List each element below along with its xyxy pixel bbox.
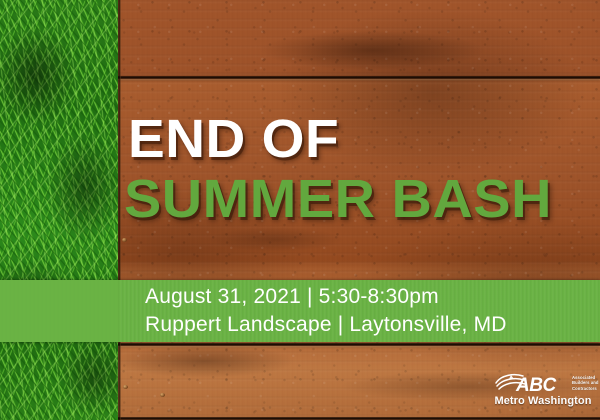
- svg-text:ABC: ABC: [515, 375, 556, 394]
- event-date-time: August 31, 2021 | 5:30-8:30pm: [145, 283, 595, 311]
- grass-panel: [0, 0, 118, 420]
- nail-head-lower: [123, 385, 128, 389]
- event-flyer: END OF SUMMER BASH August 31, 2021 | 5:3…: [0, 0, 600, 420]
- headline-line-2: SUMMER BASH: [124, 170, 600, 228]
- nail-head-lower-right: [160, 393, 165, 397]
- abc-chapter-name: Metro Washington: [494, 395, 592, 408]
- logo-primary-row: ABC Associated Builders and Contractors: [494, 372, 592, 394]
- event-venue-location: Ruppert Landscape | Laytonsville, MD: [145, 311, 595, 339]
- abc-tagline-line-3: Contractors: [572, 386, 599, 391]
- headline-block: END OF SUMMER BASH: [128, 112, 594, 228]
- abc-logo: ABC Associated Builders and Contractors …: [494, 372, 592, 410]
- nail-head-upper: [122, 238, 127, 242]
- grass-shadow-overlay: [0, 0, 118, 420]
- board-joint-left: [118, 0, 121, 420]
- event-details-text: August 31, 2021 | 5:30-8:30pm Ruppert La…: [145, 283, 595, 339]
- abc-monogram-mark: ABC: [494, 372, 570, 394]
- abc-tagline: Associated Builders and Contractors: [572, 373, 599, 393]
- headline-line-1: END OF: [128, 112, 600, 166]
- banner-grass-overlap: [0, 280, 118, 342]
